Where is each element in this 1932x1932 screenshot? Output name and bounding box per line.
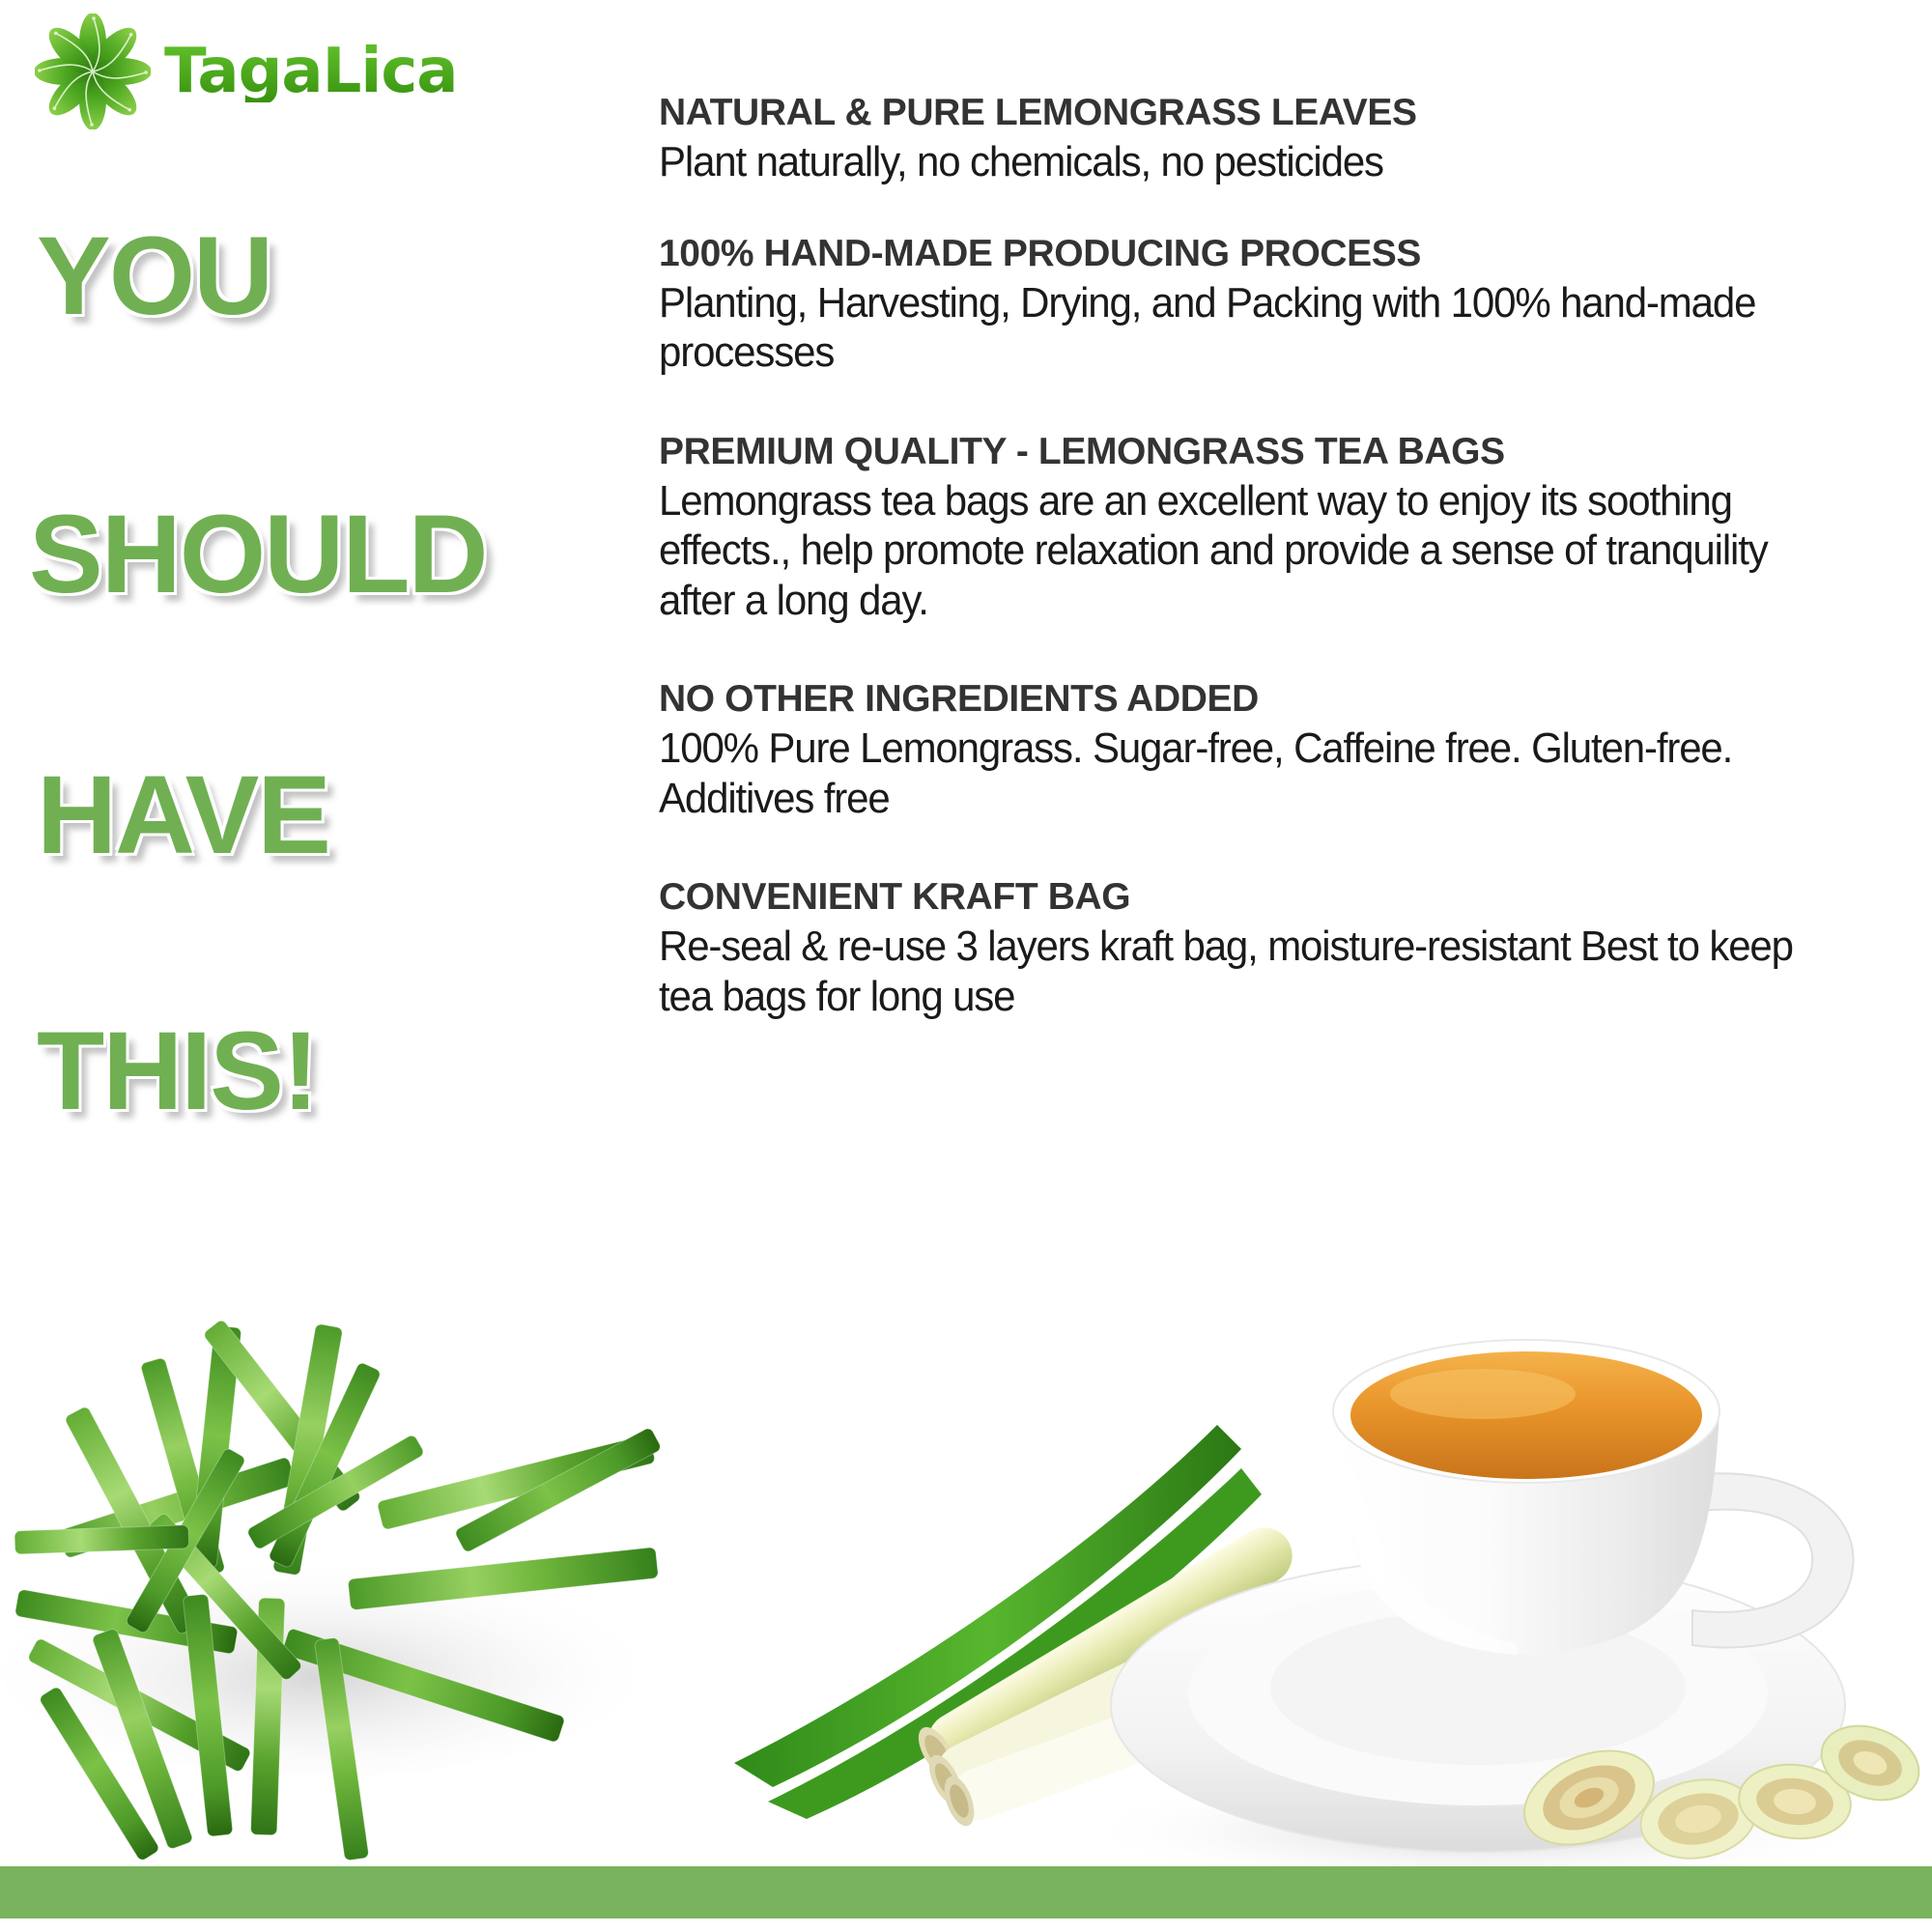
feature-item: 100% HAND-MADE PRODUCING PROCESS Plantin… (659, 234, 1905, 378)
feature-body: Planting, Harvesting, Drying, and Packin… (659, 278, 1849, 378)
brand-wordmark: TagaLica (164, 41, 457, 102)
feature-title: CONVENIENT KRAFT BAG (659, 877, 1905, 918)
headline-word-this: THIS! (37, 1019, 317, 1124)
feature-body: Lemongrass tea bags are an excellent way… (659, 476, 1849, 625)
lemongrass-tea-cup-photo (715, 1222, 1932, 1879)
chopped-lemongrass-leaves-photo (0, 1212, 696, 1879)
feature-body: Plant naturally, no chemicals, no pestic… (659, 137, 1849, 186)
feature-body: 100% Pure Lemongrass. Sugar-free, Caffei… (659, 724, 1849, 823)
feature-body: Re-seal & re-use 3 layers kraft bag, moi… (659, 922, 1849, 1021)
feature-title: PREMIUM QUALITY - LEMONGRASS TEA BAGS (659, 432, 1905, 472)
feature-list: NATURAL & PURE LEMONGRASS LEAVES Plant n… (659, 93, 1905, 1054)
feature-item: NATURAL & PURE LEMONGRASS LEAVES Plant n… (659, 93, 1905, 187)
feature-title: 100% HAND-MADE PRODUCING PROCESS (659, 234, 1905, 274)
headline-word-have: HAVE (37, 763, 329, 868)
feature-title: NATURAL & PURE LEMONGRASS LEAVES (659, 93, 1905, 133)
feature-item: CONVENIENT KRAFT BAG Re-seal & re-use 3 … (659, 877, 1905, 1021)
feature-item: NO OTHER INGREDIENTS ADDED 100% Pure Lem… (659, 679, 1905, 823)
headline-word-you: YOU (37, 224, 271, 329)
flower-leaf-rosette-icon (35, 14, 151, 129)
headline-word-should: SHOULD (29, 502, 487, 608)
product-photos (0, 1212, 1932, 1879)
footer-accent-bar (0, 1866, 1932, 1918)
feature-title: NO OTHER INGREDIENTS ADDED (659, 679, 1905, 720)
feature-item: PREMIUM QUALITY - LEMONGRASS TEA BAGS Le… (659, 432, 1905, 626)
brand-logo: TagaLica (35, 14, 457, 129)
